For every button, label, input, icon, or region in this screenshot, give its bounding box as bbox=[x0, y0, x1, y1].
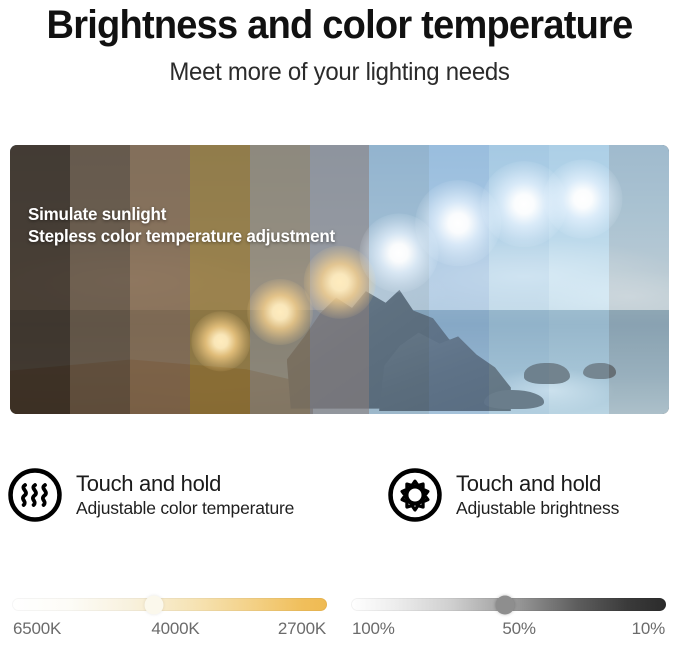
hero-caption-line2: Stepless color temperature adjustment bbox=[28, 225, 335, 247]
color-band-3 bbox=[130, 145, 190, 414]
cct-label-max: 2700K bbox=[278, 618, 326, 640]
brightness-slider-knob[interactable] bbox=[496, 595, 515, 614]
color-temperature-slider-labels: 6500K 4000K 2700K bbox=[12, 618, 327, 640]
color-band-2 bbox=[70, 145, 130, 414]
page-title: Brightness and color temperature bbox=[17, 2, 662, 48]
brightness-label-min: 10% bbox=[632, 618, 665, 640]
color-band-9 bbox=[489, 145, 549, 414]
hero-caption-line1: Simulate sunlight bbox=[28, 203, 335, 225]
color-band-8 bbox=[429, 145, 489, 414]
color-band-7 bbox=[369, 145, 429, 414]
color-band-4 bbox=[190, 145, 250, 414]
color-temperature-slider-block: 6500K 4000K 2700K bbox=[0, 598, 339, 640]
brightness-sun-icon bbox=[386, 466, 444, 524]
color-temperature-slider[interactable] bbox=[12, 598, 327, 611]
brightness-label-mid: 50% bbox=[502, 618, 535, 640]
color-band-6 bbox=[310, 145, 370, 414]
brightness-slider[interactable] bbox=[351, 598, 666, 611]
brightness-slider-labels: 100% 50% 10% bbox=[351, 618, 666, 640]
color-temperature-slider-knob[interactable] bbox=[144, 595, 163, 614]
slider-row: 6500K 4000K 2700K 100% 50% 10% bbox=[0, 598, 679, 640]
hero-banner: Simulate sunlight Stepless color tempera… bbox=[10, 145, 669, 414]
brightness-label-max: 100% bbox=[352, 618, 395, 640]
color-band-1 bbox=[10, 145, 70, 414]
page-header: Brightness and color temperature Meet mo… bbox=[0, 0, 679, 88]
feature-subtitle-brightness: Adjustable brightness bbox=[456, 497, 619, 520]
product-feature-page: Brightness and color temperature Meet mo… bbox=[0, 0, 679, 648]
feature-text-brightness: Touch and hold Adjustable brightness bbox=[456, 470, 619, 520]
cct-label-min: 6500K bbox=[13, 618, 61, 640]
color-temperature-bands bbox=[10, 145, 669, 414]
feature-brightness: Touch and hold Adjustable brightness bbox=[0, 466, 679, 524]
cct-label-mid: 4000K bbox=[151, 618, 199, 640]
page-subtitle: Meet more of your lighting needs bbox=[14, 56, 666, 88]
color-band-11 bbox=[609, 145, 669, 414]
color-band-10 bbox=[549, 145, 609, 414]
feature-row: Touch and hold Adjustable color temperat… bbox=[0, 466, 679, 524]
feature-title-brightness: Touch and hold bbox=[456, 471, 619, 497]
brightness-slider-block: 100% 50% 10% bbox=[339, 598, 678, 640]
hero-caption: Simulate sunlight Stepless color tempera… bbox=[28, 203, 335, 247]
color-band-5 bbox=[250, 145, 310, 414]
